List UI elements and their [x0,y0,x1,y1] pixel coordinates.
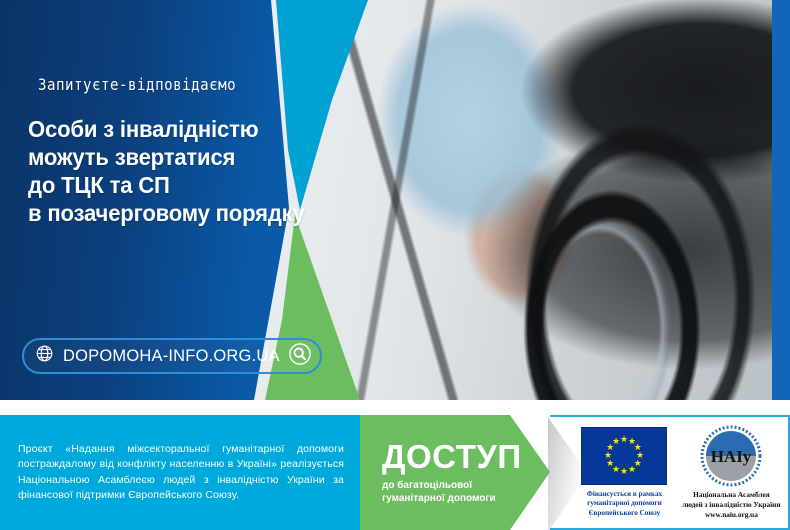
program-subtitle: до багатоцільової гуманітарної допомоги [382,479,550,505]
globe-icon [35,344,54,368]
website-url-pill[interactable]: DOPOMOHA-INFO.ORG.UA [22,338,322,374]
eu-star-icon: ★ [604,451,612,460]
program-block: ДОСТУП до багатоцільової гуманітарної до… [360,415,550,530]
eu-caption: Фінансується в рамках гуманітарної допом… [587,490,662,519]
eu-flag-icon: ★★★★★★★★★★★★ [581,427,667,485]
website-url-text: DOPOMOHA-INFO.ORG.UA [63,347,280,366]
naiu-caption: Національна Асамблея людей з інвалідніст… [682,490,780,519]
footer-description-block: Проєкт «Надання міжсекторальної гуманіта… [0,415,360,530]
naiu-logo-icon: НАІу [700,425,762,487]
eu-caption-line1: Фінансується в рамках [587,490,662,500]
naiu-url[interactable]: www.naiu.org.ua [682,510,780,520]
right-blue-strip [772,0,790,400]
program-subtitle-line2: гуманітарної допомоги [382,492,550,505]
logos-block: ★★★★★★★★★★★★ Фінансується в рамках гуман… [550,415,790,530]
eu-caption-line2: гуманітарної допомоги [587,499,662,509]
naiu-logo-block: НАІу Національна Асамблея людей з інвалі… [682,425,780,519]
headline-text: Особи з інвалідністю можуть звертатися д… [28,115,329,227]
eu-star-icon: ★ [606,459,614,468]
project-description: Проєкт «Надання міжсекторальної гуманіта… [18,442,344,504]
eu-star-icon: ★ [612,437,620,446]
program-subtitle-line1: до багатоцільової [382,479,550,492]
naiu-caption-line2: людей з інвалідністю України [682,500,780,510]
program-title: ДОСТУП [382,440,550,474]
eu-star-icon: ★ [628,465,636,474]
kicker-label: Запитуєте-відповідаємо [38,75,236,94]
naiu-caption-line1: Національна Асамблея [682,490,780,500]
search-icon[interactable] [289,343,311,370]
eu-star-icon: ★ [620,435,628,444]
main-banner: Запитуєте-відповідаємо Особи з інвалідні… [0,0,790,400]
eu-star-icon: ★ [620,467,628,476]
footer-bar: Проєкт «Надання міжсекторальної гуманіта… [0,415,790,530]
naiu-logo-text: НАІу [711,447,752,466]
eu-caption-line3: Європейського Союзу [587,509,662,519]
eu-donor-logo: ★★★★★★★★★★★★ Фінансується в рамках гуман… [581,427,667,519]
banner-root: Запитуєте-відповідаємо Особи з інвалідні… [0,0,790,530]
